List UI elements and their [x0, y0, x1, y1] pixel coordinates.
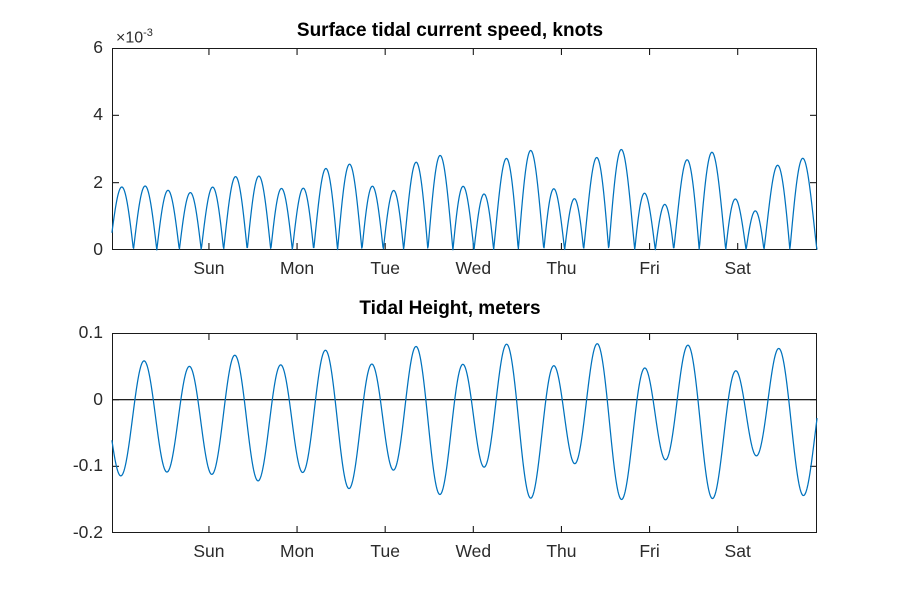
y-axis-tick-label: 0.1: [0, 322, 103, 343]
y-axis-tick-label: 4: [0, 104, 103, 125]
tidal-figure: Surface tidal current speed, knots ×10-3…: [0, 0, 900, 600]
x-axis-tick-label: Wed: [423, 258, 523, 279]
data-series-line: [112, 344, 817, 500]
y-axis-tick-label: 0: [0, 389, 103, 410]
y-axis-tick-label: 2: [0, 172, 103, 193]
x-axis-tick-label: Sun: [159, 541, 259, 562]
panel-tidal-height: Tidal Height, meters 0.10-0.1-0.2 SunMon…: [0, 290, 900, 600]
data-series-line: [112, 150, 817, 250]
x-axis-tick-label: Tue: [335, 258, 435, 279]
y-axis-tick-label: 6: [0, 37, 103, 58]
x-axis-tick-label: Sat: [688, 258, 788, 279]
x-axis-tick-label: Fri: [600, 541, 700, 562]
x-axis-tick-label: Fri: [600, 258, 700, 279]
x-axis-tick-label: Mon: [247, 258, 347, 279]
y-axis-tick-label: -0.2: [0, 522, 103, 543]
y-axis-tick-label: 0: [0, 239, 103, 260]
panel-current-speed: Surface tidal current speed, knots ×10-3…: [0, 0, 900, 290]
x-axis-tick-label: Thu: [511, 258, 611, 279]
y-axis-tick-label: -0.1: [0, 455, 103, 476]
x-axis-tick-label: Wed: [423, 541, 523, 562]
x-axis-tick-label: Thu: [511, 541, 611, 562]
x-axis-tick-label: Sat: [688, 541, 788, 562]
x-axis-tick-label: Tue: [335, 541, 435, 562]
x-axis-tick-label: Sun: [159, 258, 259, 279]
x-axis-tick-label: Mon: [247, 541, 347, 562]
current-speed-canvas: [0, 0, 900, 290]
